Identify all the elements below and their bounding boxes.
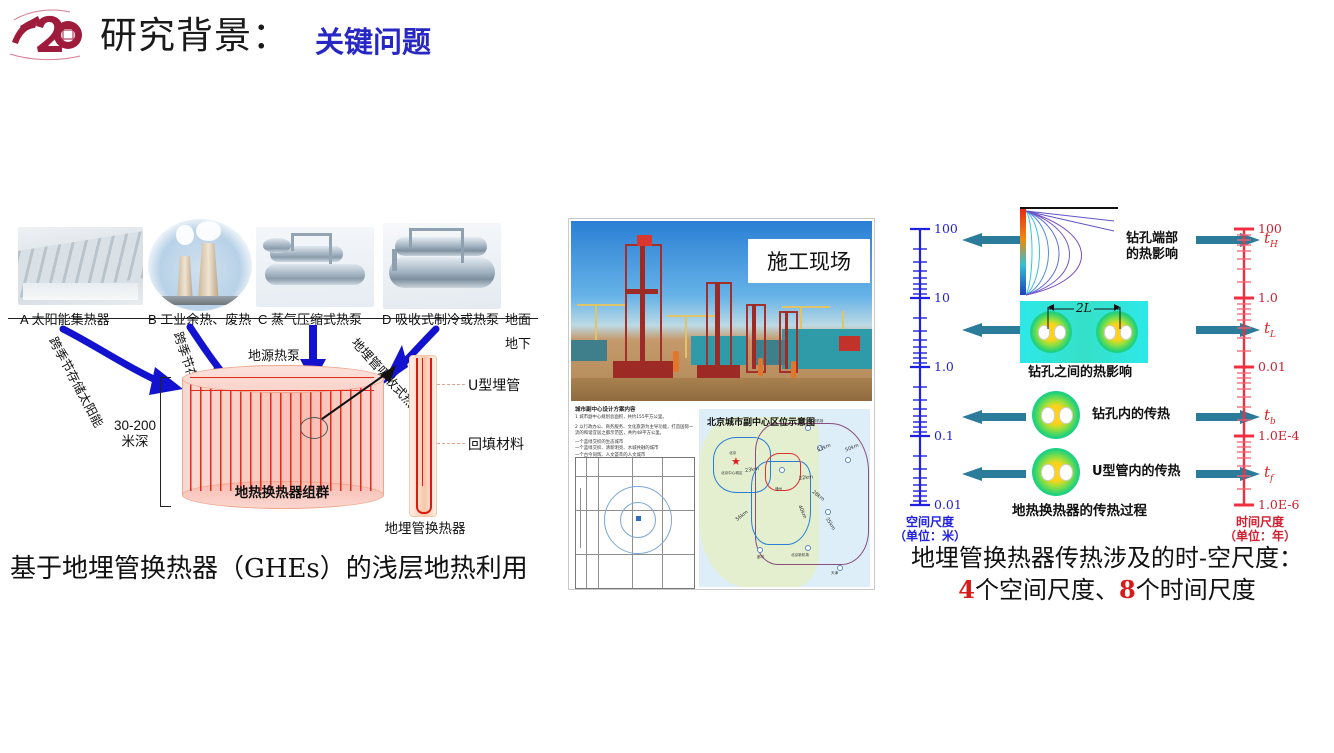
tf-sub: f <box>1270 474 1273 484</box>
tsinghua-120-anniversary-logo <box>8 8 92 64</box>
map-label-new-airport: 北京新机场 <box>791 553 809 558</box>
space-tick-0p1: 0.1 <box>934 428 954 443</box>
page-title: 研究背景： <box>100 12 290 60</box>
space-arrow-3 <box>962 410 1026 424</box>
caption-mid-1: 个空间尺度、 <box>975 576 1119 604</box>
left-panel-caption: 基于地埋管换热器（GHEs）的浅层地热利用 <box>10 548 528 585</box>
map-label-capital-airport: 首都机场 <box>809 419 823 424</box>
grout-leader-line <box>437 443 465 444</box>
depth-label: 30-200 米深 <box>105 417 165 451</box>
map-label-langfang: 廊坊 <box>757 555 764 560</box>
plan-heading: 城市副中心设计方案内容 <box>575 405 636 413</box>
time-axis-title: 时间尺度 <box>1210 515 1310 529</box>
left-diagram: A 太阳能集热器 B 工业余热、废热 C 蒸气压缩式热泵 D 吸收式制冷或热泵 … <box>0 205 560 545</box>
construction-site-photo: 施工现场 <box>571 221 872 401</box>
inside-borehole-blob <box>1032 391 1080 439</box>
u-pipe-label: U型埋管 <box>468 375 520 395</box>
map-label-tianjin: 天津 <box>831 571 838 576</box>
tb-sub: b <box>1270 417 1276 427</box>
space-tick-0p01: 0.01 <box>934 497 962 512</box>
time-tick-1e-6: 1.0E-6 <box>1258 497 1299 512</box>
transport-network-schematic <box>575 457 695 589</box>
process-2-label: 钻孔之间的热影响 <box>1028 365 1132 381</box>
time-tick-1e-4: 1.0E-4 <box>1258 428 1299 443</box>
space-scale-count: 4 <box>958 575 975 604</box>
borehole-field-caption: 地热换热器组群 <box>182 481 382 501</box>
time-tick-1: 1.0 <box>1258 290 1278 305</box>
time-tick-100: 100 <box>1258 221 1282 236</box>
solar-collector-photo <box>18 227 143 305</box>
ground-surface-line <box>8 318 538 319</box>
process-3-label: 钻孔内的传热 <box>1092 407 1170 423</box>
u-pipe-leader-line <box>437 384 465 385</box>
space-arrow-1 <box>962 233 1026 247</box>
slide-header: 研究背景： 关键问题 <box>0 0 1334 74</box>
zoom-callout-arrow <box>318 361 404 423</box>
space-arrow-4 <box>962 467 1026 481</box>
project-site-panel: 施工现场 城市副中心设计方案内容 1 城市副中心规划总面积，共约155平方公里。… <box>568 218 875 590</box>
ghe-caption: 地埋管换热器 <box>370 517 480 537</box>
map-label-center-city: 北京中心城区 <box>721 471 743 476</box>
plan-bullet-2: 一个蓝绿交织、清新明亮、水城共融的城市 <box>575 446 695 453</box>
ground-below-label: 地下 <box>505 333 531 352</box>
site-photo-badge: 施工现场 <box>748 239 870 283</box>
borehole-end-heat-contour <box>1020 207 1118 299</box>
caption-mid-2: 个时间尺度 <box>1136 576 1256 604</box>
process-1-line2: 的热影响 <box>1126 247 1178 262</box>
process-1-label: 钻孔端部 的热影响 <box>1126 231 1178 263</box>
cooling-tower-photo <box>148 219 252 311</box>
absorption-chiller-photo <box>383 223 501 309</box>
right-panel-caption-line1: 地埋管换热器传热涉及的时-空尺度： <box>880 538 1334 573</box>
space-axis-title: 空间尺度 <box>882 515 978 529</box>
depth-unit: 米深 <box>105 434 165 451</box>
ground-above-label: 地面 <box>505 309 531 328</box>
depth-value: 30-200 <box>105 417 165 434</box>
arrow-label-gshp: 地源热泵 <box>248 345 300 364</box>
between-boreholes-field: 2L <box>1020 301 1148 363</box>
space-arrow-2 <box>962 323 1026 337</box>
space-tick-10: 10 <box>934 290 950 305</box>
process-1-line1: 钻孔端部 <box>1126 231 1178 246</box>
time-scale-count: 8 <box>1119 575 1136 604</box>
beijing-center-star: ★ <box>731 457 741 468</box>
dimension-2L: 2L <box>1076 301 1092 315</box>
plan-item-2: 2 以行政办公、商务服务、文化旅游为主导功能，打造国际一流的和谐宜居之都示范区，… <box>575 425 695 438</box>
space-tick-1: 1.0 <box>934 359 954 374</box>
process-4-label: U型管内的传热 <box>1092 464 1181 480</box>
page-subtitle: 关键问题 <box>315 22 431 62</box>
center-caption: 地热换热器的传热过程 <box>1012 503 1147 519</box>
slide-root: 研究背景： 关键问题 A 太阳能集热器 B 工业余热、废热 C 蒸气压缩式热泵 … <box>0 0 1334 753</box>
time-tick-0p01: 0.01 <box>1258 359 1286 374</box>
map-title: 北京城市副中心区位示意图 <box>707 415 815 428</box>
map-label-tongzhou: 通州 <box>775 487 782 492</box>
beijing-subcenter-map: ★ 北京城市副中心区位示意图 23km 22km 31km 50km 28km … <box>699 409 870 587</box>
space-tick-100: 100 <box>934 221 958 236</box>
grout-label: 回填材料 <box>468 434 524 454</box>
vapor-compression-heat-pump-photo <box>256 227 374 307</box>
right-scales-diagram: 100 10 1.0 0.1 0.01 空间尺度 （单位：米） <box>880 205 1334 535</box>
right-panel-caption-line2: 4个空间尺度、8个时间尺度 <box>880 570 1334 605</box>
tL-sub: L <box>1270 330 1276 340</box>
plan-item-1: 1 城市副中心规划总面积，共约155平方公里。 <box>575 415 695 422</box>
tH-sub: H <box>1270 240 1278 250</box>
inside-u-tube-blob <box>1032 448 1080 496</box>
map-label-beijing: 北京 <box>729 451 736 456</box>
single-ghe-graphic <box>409 355 435 515</box>
